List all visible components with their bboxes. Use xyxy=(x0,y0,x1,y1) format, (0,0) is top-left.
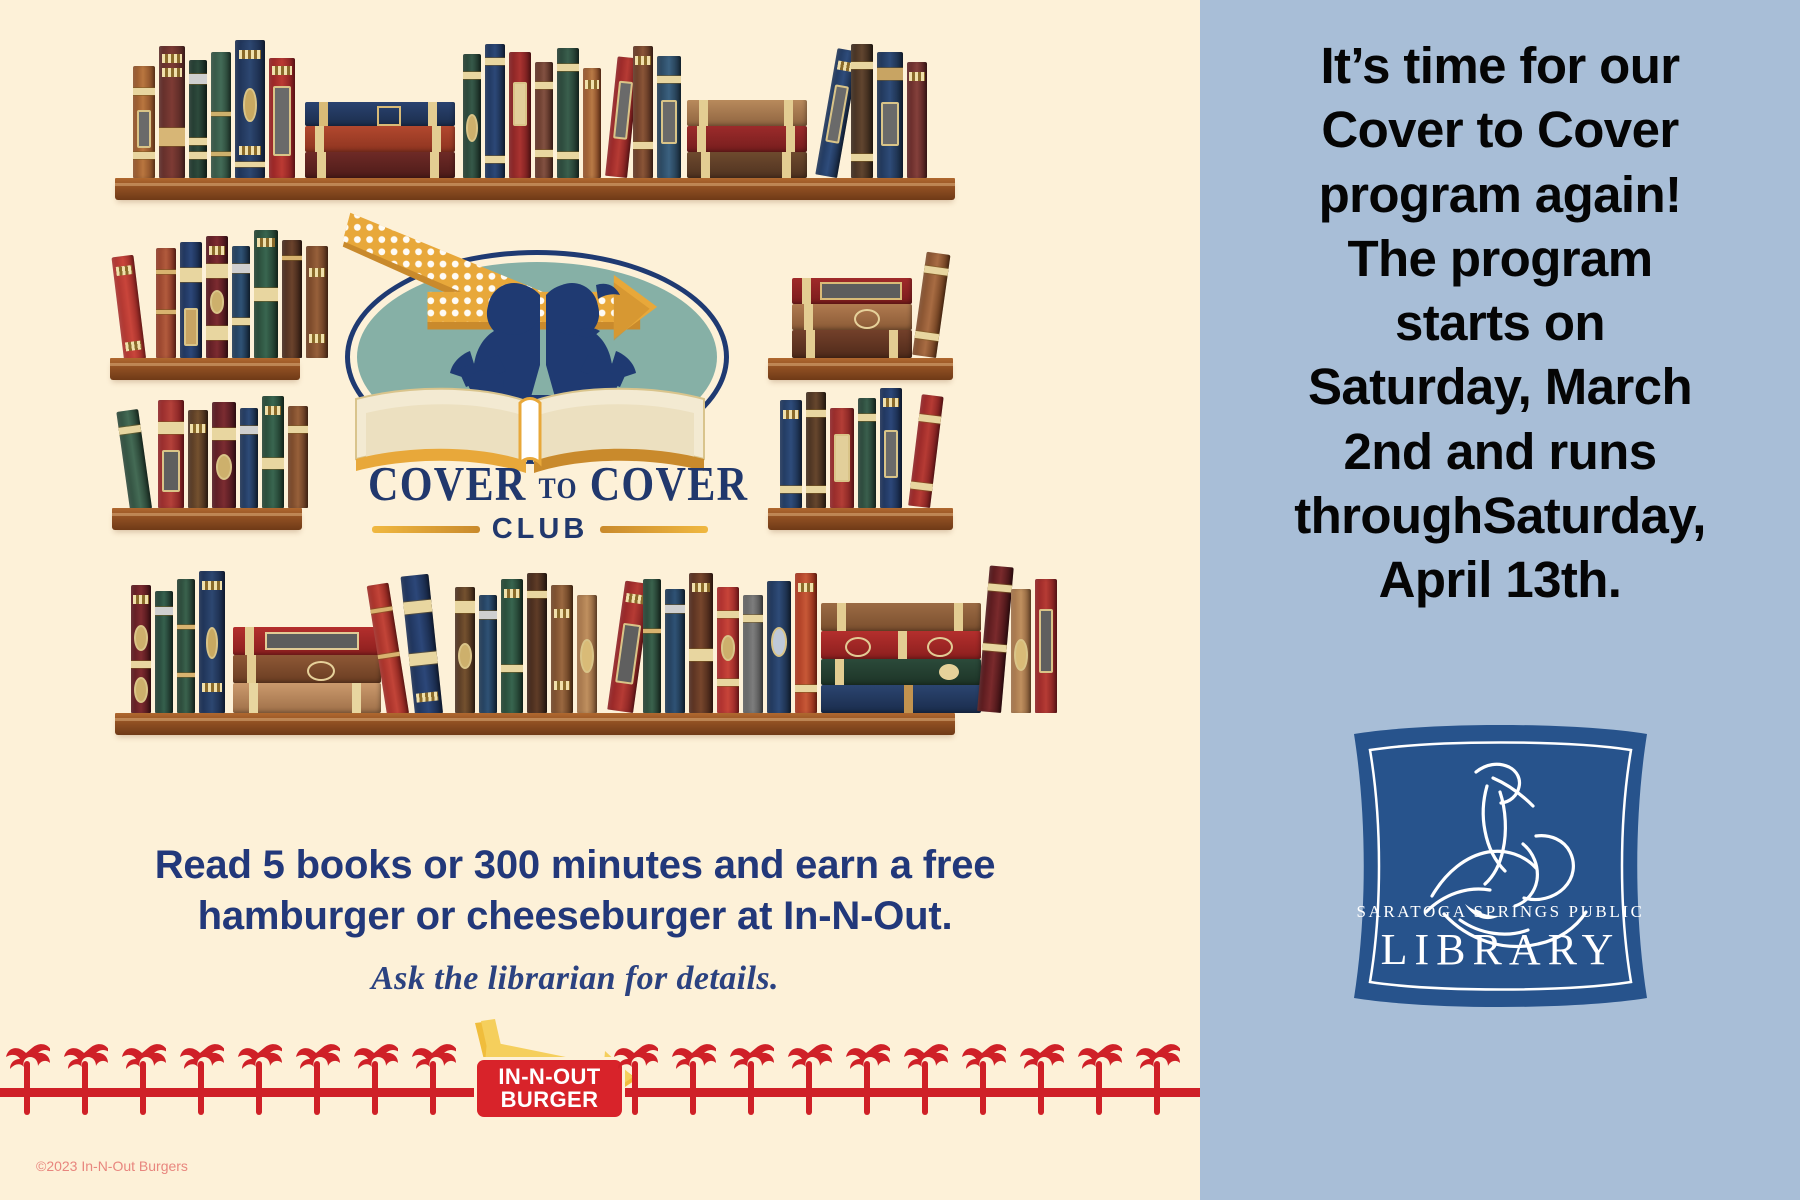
book xyxy=(254,230,278,358)
headline-line: program again! xyxy=(1222,163,1778,227)
book xyxy=(806,392,826,508)
book xyxy=(665,589,685,713)
book xyxy=(551,585,573,713)
library-name-main: LIBRARY xyxy=(1348,924,1653,975)
book-stack xyxy=(687,100,807,178)
headline-line: 2nd and runs xyxy=(1222,420,1778,484)
book xyxy=(821,685,981,713)
book xyxy=(821,631,981,659)
saratoga-springs-public-library-logo: SARATOGA SPRINGS PUBLIC LIBRARY xyxy=(1348,716,1653,1016)
palm-tree-icon xyxy=(4,1035,50,1115)
book xyxy=(133,66,155,178)
book-row xyxy=(115,40,955,178)
book xyxy=(1035,579,1057,713)
book xyxy=(233,627,381,655)
palm-tree-icon xyxy=(62,1035,108,1115)
book xyxy=(156,248,176,358)
book xyxy=(687,100,807,126)
shelf-middle-right xyxy=(768,270,953,380)
book xyxy=(240,408,258,508)
book xyxy=(687,126,807,152)
headline-line: The program xyxy=(1222,227,1778,291)
shelf-top xyxy=(115,40,955,200)
book xyxy=(821,603,981,631)
book xyxy=(305,102,455,126)
palm-tree-icon xyxy=(410,1035,456,1115)
palm-tree-icon xyxy=(960,1035,1006,1115)
in-n-out-wordmark: IN-N-OUT BURGER xyxy=(477,1060,622,1117)
book xyxy=(792,304,912,330)
shelf-bottom xyxy=(115,565,955,735)
book xyxy=(908,394,943,508)
in-n-out-line-2: BURGER xyxy=(501,1089,599,1111)
book xyxy=(211,52,231,178)
book xyxy=(877,52,903,178)
right-panel: It’s time for our Cover to Cover program… xyxy=(1200,0,1800,1200)
palm-tree-icon xyxy=(294,1035,340,1115)
offer-text: Read 5 books or 300 minutes and earn a f… xyxy=(70,840,1080,942)
palm-tree-icon xyxy=(1076,1035,1122,1115)
book-row xyxy=(768,388,953,508)
book-stack xyxy=(821,603,981,713)
book xyxy=(780,400,802,508)
book xyxy=(767,581,791,713)
palm-tree-border: IN-N-OUT BURGER xyxy=(0,1035,1200,1135)
shelf-board xyxy=(115,178,955,200)
book-row xyxy=(112,400,302,508)
book-stack xyxy=(305,102,455,178)
shelf-lower-right xyxy=(768,388,953,530)
copyright-text: ©2023 In-N-Out Burgers xyxy=(36,1158,188,1174)
book xyxy=(206,236,228,358)
announcement-headline: It’s time for our Cover to Cover program… xyxy=(1222,34,1778,612)
book xyxy=(233,683,381,713)
book xyxy=(907,62,927,178)
offer-line-1: Read 5 books or 300 minutes and earn a f… xyxy=(70,840,1080,891)
book xyxy=(269,58,295,178)
shelf-board xyxy=(110,358,300,380)
book xyxy=(131,585,151,713)
shelf-middle-left xyxy=(110,240,300,380)
book xyxy=(232,246,250,358)
shelf-board xyxy=(768,358,953,380)
book xyxy=(479,595,497,713)
book xyxy=(1011,589,1031,713)
book xyxy=(463,54,481,178)
book xyxy=(159,46,185,178)
book xyxy=(305,126,455,152)
book xyxy=(689,573,713,713)
rule-right xyxy=(600,526,708,533)
book xyxy=(527,573,547,713)
library-name-top: SARATOGA SPRINGS PUBLIC xyxy=(1348,902,1653,922)
poster: COVER TO COVER CLUB Read 5 books or 300 … xyxy=(0,0,1800,1200)
book-row xyxy=(110,240,300,358)
book xyxy=(262,396,284,508)
shelf-board xyxy=(112,508,302,530)
book xyxy=(851,44,873,178)
book xyxy=(455,587,475,713)
book xyxy=(288,406,308,508)
headline-line: throughSaturday, xyxy=(1222,484,1778,548)
book xyxy=(233,655,381,683)
book xyxy=(880,388,902,508)
book xyxy=(830,408,854,508)
shelf-lower-left xyxy=(112,400,302,530)
rule-left xyxy=(372,526,480,533)
book xyxy=(188,410,208,508)
book-stack xyxy=(792,278,912,358)
headline-line: April 13th. xyxy=(1222,548,1778,612)
palm-tree-icon xyxy=(670,1035,716,1115)
book xyxy=(657,56,681,178)
book xyxy=(557,48,579,178)
palm-tree-icon xyxy=(902,1035,948,1115)
palm-tree-icon xyxy=(1018,1035,1064,1115)
left-panel: COVER TO COVER CLUB Read 5 books or 300 … xyxy=(0,0,1200,1200)
logo-title: COVER TO COVER xyxy=(368,455,712,512)
logo-title-word1: COVER xyxy=(368,456,527,511)
book xyxy=(977,565,1014,713)
palm-tree-icon xyxy=(844,1035,890,1115)
book xyxy=(912,252,950,358)
book xyxy=(305,152,455,178)
logo-club-label: CLUB xyxy=(492,513,589,546)
ask-librarian-text: Ask the librarian for details. xyxy=(70,960,1080,998)
book-stack xyxy=(233,627,381,713)
cover-to-cover-logo: COVER TO COVER CLUB xyxy=(340,215,740,555)
book xyxy=(687,152,807,178)
book xyxy=(155,591,173,713)
book xyxy=(199,571,225,713)
book xyxy=(583,68,601,178)
palm-tree-icon xyxy=(1134,1035,1180,1115)
book xyxy=(111,255,146,361)
book xyxy=(643,579,661,713)
book xyxy=(795,573,817,713)
book xyxy=(821,659,981,685)
headline-line: It’s time for our xyxy=(1222,34,1778,98)
book xyxy=(235,40,265,178)
logo-title-word2: COVER xyxy=(590,456,749,511)
palm-tree-icon xyxy=(786,1035,832,1115)
book xyxy=(535,62,553,178)
book xyxy=(282,240,302,358)
headline-line: Cover to Cover xyxy=(1222,98,1778,162)
book xyxy=(577,595,597,713)
book xyxy=(792,330,912,358)
shelf-board xyxy=(768,508,953,530)
logo-club-row: CLUB xyxy=(340,513,740,546)
book xyxy=(189,60,207,178)
book xyxy=(792,278,912,304)
book xyxy=(858,398,876,508)
book xyxy=(306,246,328,358)
offer-line-2: hamburger or cheeseburger at In-N-Out. xyxy=(70,891,1080,942)
book xyxy=(633,46,653,178)
book xyxy=(180,242,202,358)
headline-line: starts on xyxy=(1222,291,1778,355)
book xyxy=(177,579,195,713)
palm-tree-icon xyxy=(612,1035,658,1115)
headline-line: Saturday, March xyxy=(1222,355,1778,419)
logo-title-to: TO xyxy=(538,472,577,505)
book xyxy=(509,52,531,178)
book xyxy=(501,579,523,713)
book xyxy=(743,595,763,713)
book xyxy=(158,400,184,508)
palm-tree-icon xyxy=(178,1035,224,1115)
book-row xyxy=(115,565,955,713)
book xyxy=(485,44,505,178)
palm-tree-icon xyxy=(120,1035,166,1115)
book xyxy=(116,409,152,511)
in-n-out-line-1: IN-N-OUT xyxy=(498,1066,600,1088)
book xyxy=(212,402,236,508)
book xyxy=(401,574,443,716)
palm-tree-icon xyxy=(352,1035,398,1115)
palm-tree-icon xyxy=(236,1035,282,1115)
book-row xyxy=(768,270,953,358)
shelf-board xyxy=(115,713,955,735)
palm-tree-icon xyxy=(728,1035,774,1115)
book xyxy=(717,587,739,713)
